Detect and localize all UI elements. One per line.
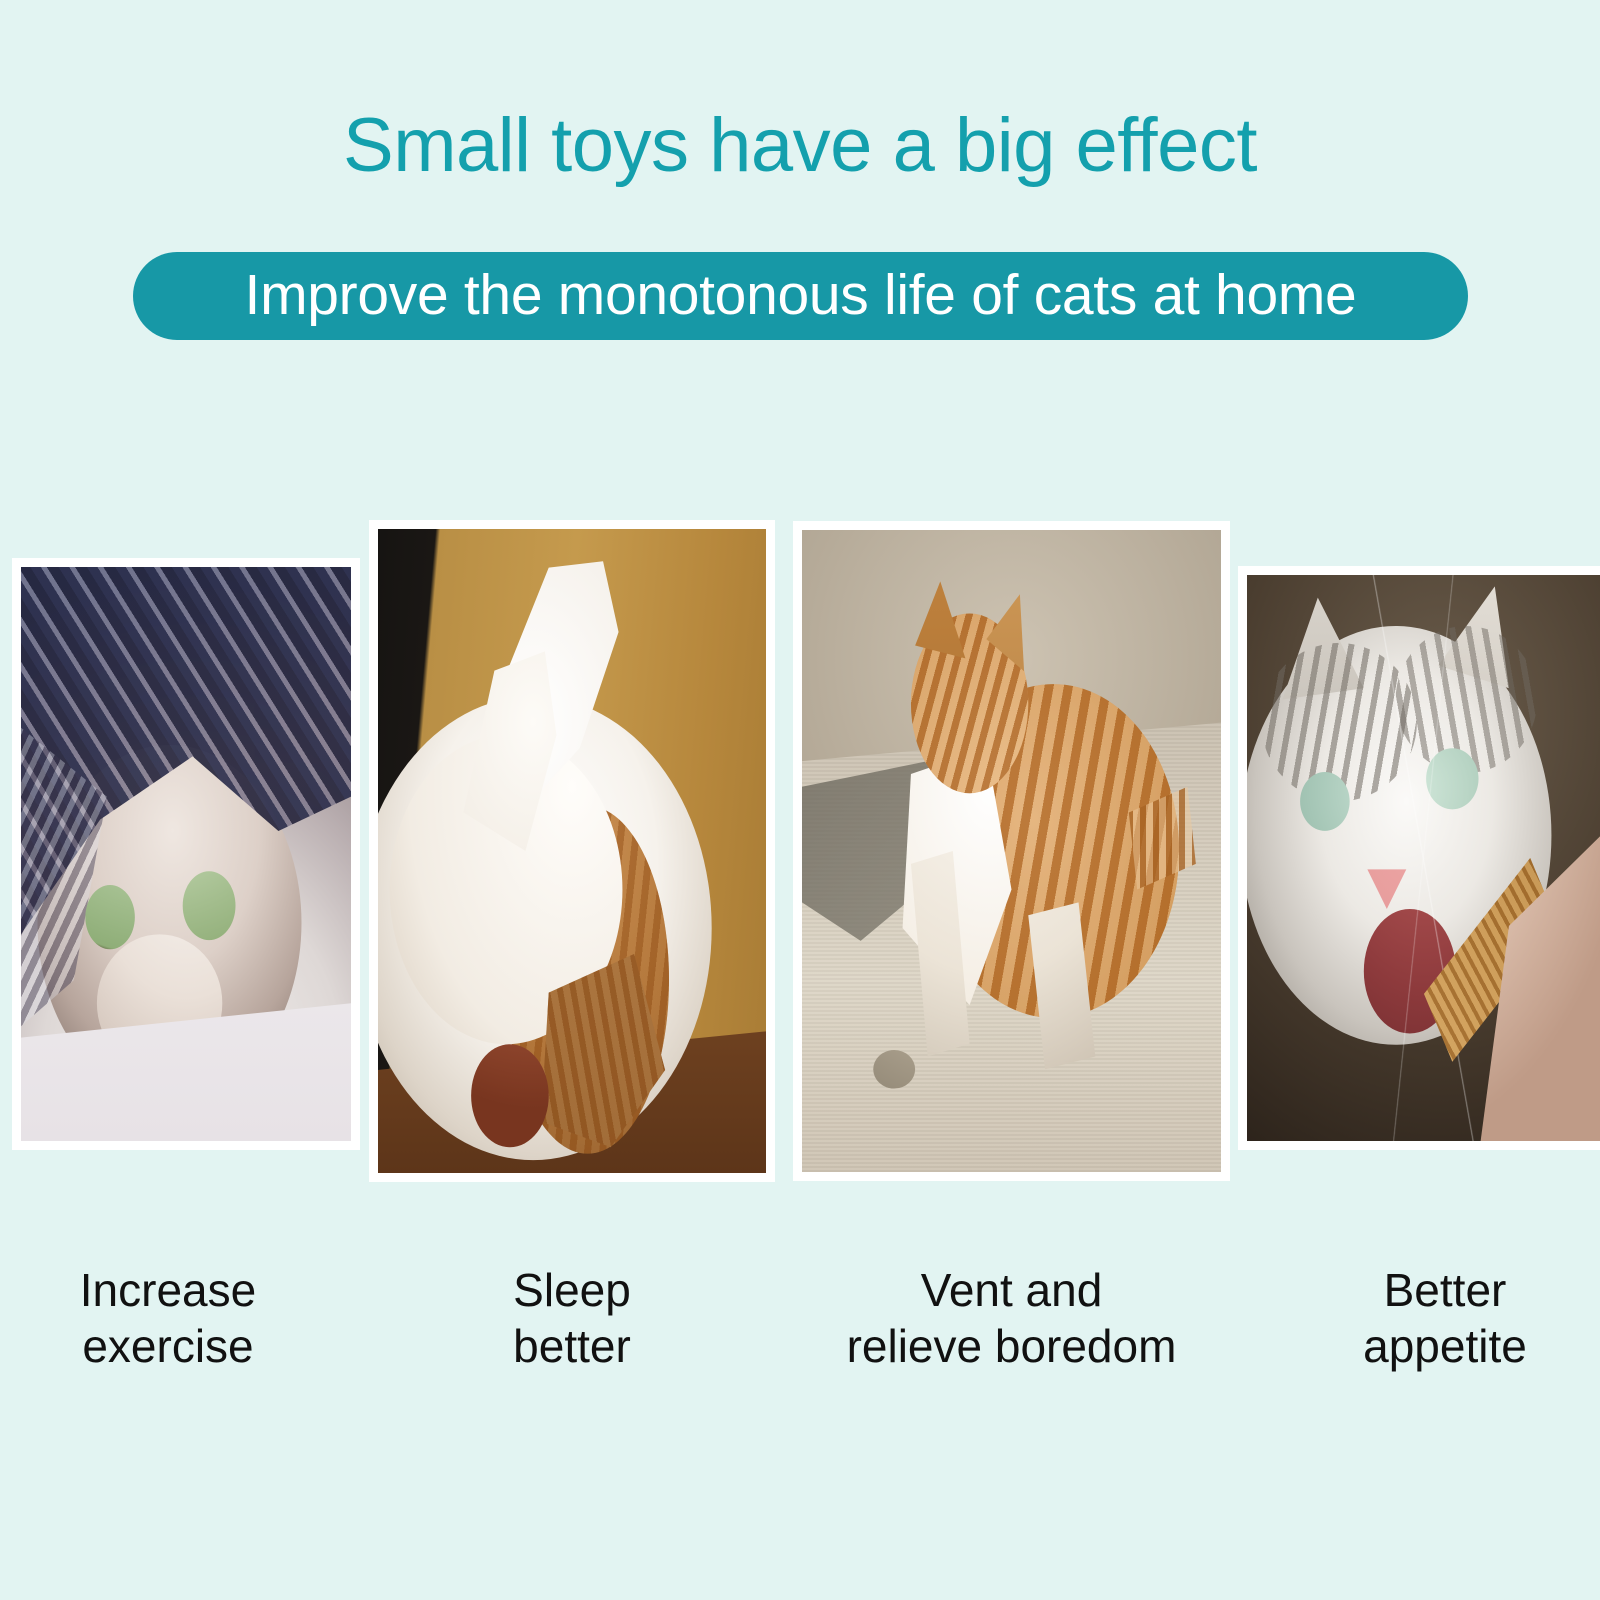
caption-line-1: Vent and [793, 1262, 1230, 1318]
caption-better-appetite: Better appetite [1290, 1262, 1600, 1374]
caption-line-2: relieve boredom [793, 1318, 1230, 1374]
caption-line-1: Better [1290, 1262, 1600, 1318]
caption-line-2: exercise [0, 1318, 336, 1374]
gallery-panel-4 [1238, 566, 1600, 1150]
caption-sleep-better: Sleep better [372, 1262, 772, 1374]
photo-increase-exercise [21, 567, 351, 1141]
caption-line-2: appetite [1290, 1318, 1600, 1374]
subtitle-banner: Improve the monotonous life of cats at h… [133, 252, 1468, 340]
photo-sleep-better [378, 529, 766, 1173]
page-title: Small toys have a big effect [0, 108, 1600, 184]
caption-line-2: better [372, 1318, 772, 1374]
subtitle-text: Improve the monotonous life of cats at h… [245, 267, 1357, 324]
gallery-panel-3 [793, 521, 1230, 1181]
caption-increase-exercise: Increase exercise [0, 1262, 336, 1374]
caption-line-1: Sleep [372, 1262, 772, 1318]
photo-better-appetite [1247, 575, 1600, 1141]
gallery-panel-2 [369, 520, 775, 1182]
caption-line-1: Increase [0, 1262, 336, 1318]
photo-vent-relieve-boredom [802, 530, 1221, 1172]
promo-banner: Small toys have a big effect Improve the… [0, 0, 1600, 1600]
caption-vent-relieve-boredom: Vent and relieve boredom [793, 1262, 1230, 1374]
gallery-panel-1 [12, 558, 360, 1150]
